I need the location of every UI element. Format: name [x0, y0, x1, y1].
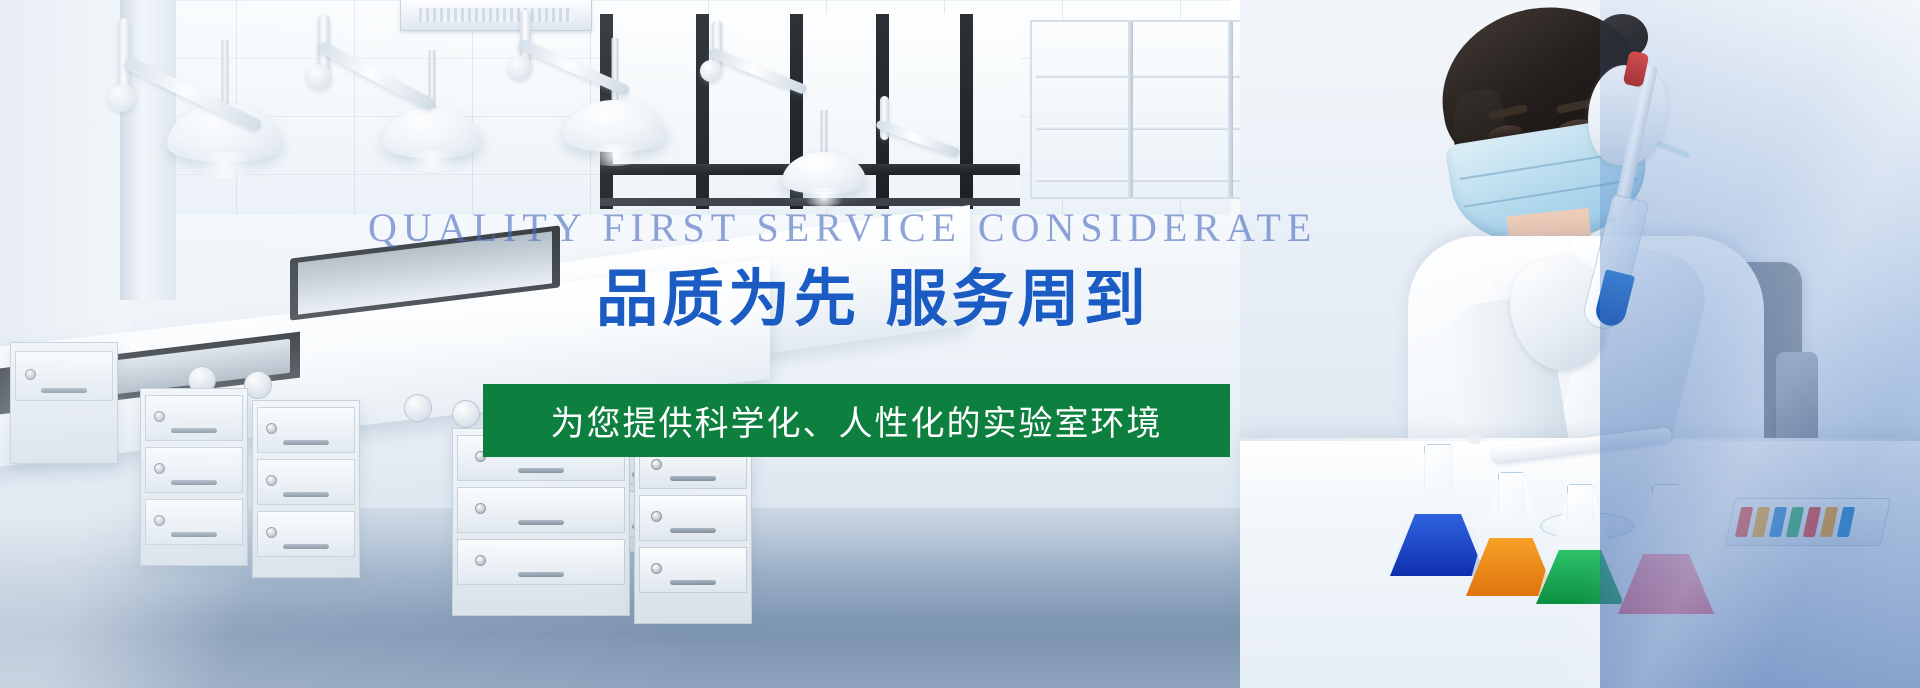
text-overlay: QUALITY FIRST SERVICE CONSIDERATE 品质为先 服… [0, 0, 1920, 688]
lab-hero-banner: QUALITY FIRST SERVICE CONSIDERATE 品质为先 服… [0, 0, 1920, 688]
subtitle-green-bar: 为您提供科学化、人性化的实验室环境 [483, 384, 1230, 457]
chinese-headline: 品质为先 服务周到 [596, 248, 1150, 338]
subtitle-text: 为您提供科学化、人性化的实验室环境 [551, 396, 1163, 445]
english-tagline: QUALITY FIRST SERVICE CONSIDERATE [368, 204, 1317, 251]
